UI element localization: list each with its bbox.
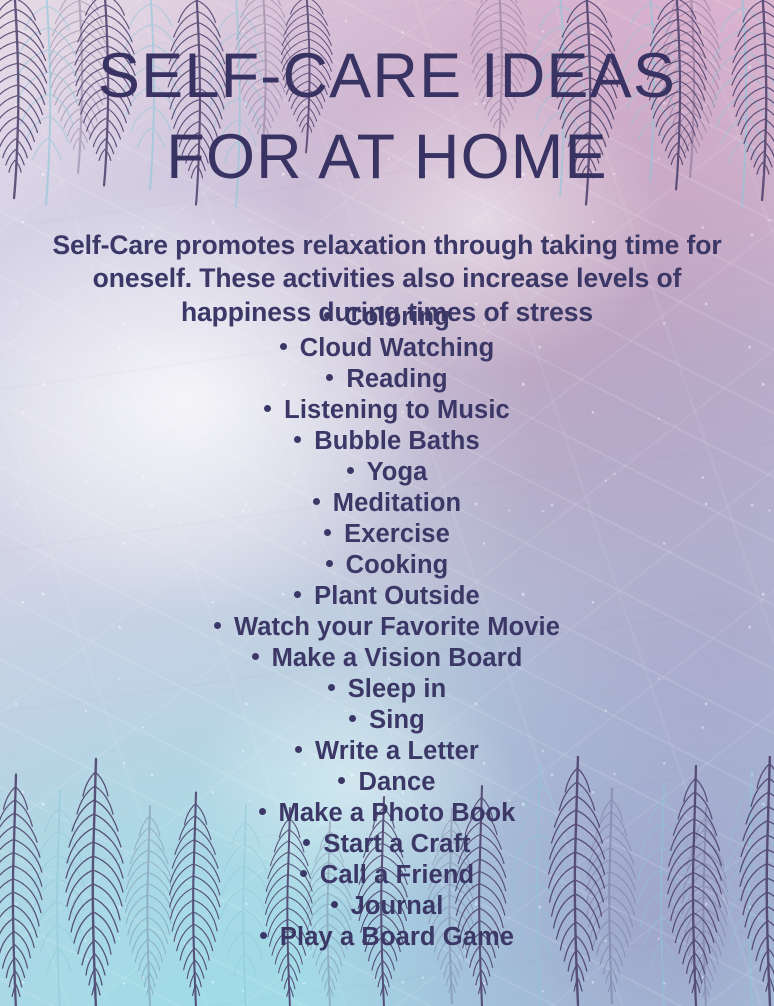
poster-title: SELF-CARE IDEAS FOR AT HOME bbox=[0, 36, 774, 197]
list-item: Sing bbox=[0, 705, 774, 736]
list-item-label: Call a Friend bbox=[320, 861, 474, 889]
list-item: Meditation bbox=[0, 488, 774, 519]
bullet-icon bbox=[347, 467, 354, 474]
list-item-label: Plant Outside bbox=[314, 582, 480, 610]
list-item: Exercise bbox=[0, 519, 774, 550]
list-item-label: Yoga bbox=[367, 458, 428, 486]
list-item: Play a Board Game bbox=[0, 922, 774, 953]
list-item: Sleep in bbox=[0, 674, 774, 705]
list-item: Yoga bbox=[0, 457, 774, 488]
list-item-label: Coloring bbox=[344, 303, 450, 331]
bullet-icon bbox=[264, 405, 271, 412]
list-item-label: Play a Board Game bbox=[280, 923, 514, 951]
list-item: Watch your Favorite Movie bbox=[0, 612, 774, 643]
bullet-icon bbox=[338, 777, 345, 784]
list-item: Call a Friend bbox=[0, 860, 774, 891]
bullet-icon bbox=[259, 808, 266, 815]
title-line-1: SELF-CARE IDEAS bbox=[40, 36, 734, 117]
self-care-poster: SELF-CARE IDEAS FOR AT HOME Self-Care pr… bbox=[0, 0, 774, 1006]
list-item: Journal bbox=[0, 891, 774, 922]
list-item-label: Exercise bbox=[344, 520, 450, 548]
list-item: Start a Craft bbox=[0, 829, 774, 860]
list-item-label: Bubble Baths bbox=[314, 427, 480, 455]
list-item-label: Cooking bbox=[346, 551, 449, 579]
list-item-label: Sing bbox=[369, 706, 425, 734]
title-line-2: FOR AT HOME bbox=[40, 117, 734, 198]
bullet-icon bbox=[294, 591, 301, 598]
list-item: Coloring bbox=[0, 302, 774, 333]
list-item-label: Make a Photo Book bbox=[279, 799, 516, 827]
bullet-icon bbox=[349, 715, 356, 722]
bullet-icon bbox=[313, 498, 320, 505]
list-item-label: Meditation bbox=[333, 489, 462, 517]
list-item: Plant Outside bbox=[0, 581, 774, 612]
list-item: Dance bbox=[0, 767, 774, 798]
bullet-icon bbox=[252, 653, 259, 660]
list-item: Cooking bbox=[0, 550, 774, 581]
list-item-label: Sleep in bbox=[348, 675, 447, 703]
list-item-label: Reading bbox=[346, 365, 447, 393]
list-item-label: Watch your Favorite Movie bbox=[234, 613, 560, 641]
list-item-label: Cloud Watching bbox=[300, 334, 495, 362]
list-item-label: Journal bbox=[351, 892, 444, 920]
list-item: Listening to Music bbox=[0, 395, 774, 426]
bullet-icon bbox=[214, 622, 221, 629]
bullet-icon bbox=[303, 839, 310, 846]
list-item-label: Dance bbox=[358, 768, 435, 796]
bullet-icon bbox=[324, 312, 331, 319]
bullet-icon bbox=[280, 343, 287, 350]
list-item-label: Listening to Music bbox=[284, 396, 510, 424]
bullet-icon bbox=[300, 870, 307, 877]
list-item-label: Start a Craft bbox=[323, 830, 470, 858]
bullet-icon bbox=[324, 529, 331, 536]
bullet-icon bbox=[331, 901, 338, 908]
bullet-icon bbox=[328, 684, 335, 691]
bullet-icon bbox=[326, 560, 333, 567]
list-item-label: Make a Vision Board bbox=[272, 644, 523, 672]
list-item: Reading bbox=[0, 364, 774, 395]
list-item: Cloud Watching bbox=[0, 333, 774, 364]
list-item-label: Write a Letter bbox=[315, 737, 479, 765]
self-care-ideas-list: ColoringCloud WatchingReadingListening t… bbox=[0, 302, 774, 953]
bullet-icon bbox=[326, 374, 333, 381]
poster-content: SELF-CARE IDEAS FOR AT HOME Self-Care pr… bbox=[0, 0, 774, 1006]
list-item: Bubble Baths bbox=[0, 426, 774, 457]
bullet-icon bbox=[294, 436, 301, 443]
bullet-icon bbox=[295, 746, 302, 753]
list-item: Write a Letter bbox=[0, 736, 774, 767]
list-item: Make a Vision Board bbox=[0, 643, 774, 674]
list-item: Make a Photo Book bbox=[0, 798, 774, 829]
bullet-icon bbox=[260, 932, 267, 939]
